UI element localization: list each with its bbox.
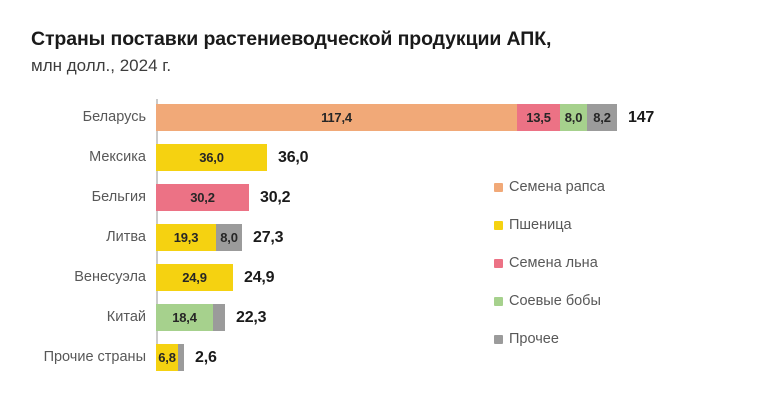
stacked-bar[interactable]: 117,413,58,08,2 [156, 104, 617, 131]
bar-total-value: 22,3 [236, 304, 266, 331]
bar-segment-value: 19,3 [174, 231, 199, 244]
bar-total-value: 147 [628, 104, 654, 131]
bar-segment[interactable]: 6,8 [156, 344, 178, 371]
bar-total-value: 30,2 [260, 184, 290, 211]
stacked-bar[interactable]: 24,9 [156, 264, 233, 291]
bar-total-value: 27,3 [253, 224, 283, 251]
chart-legend: Семена рапсаПшеницаСемена льнаСоевые боб… [494, 168, 744, 358]
stacked-bar[interactable]: 36,0 [156, 144, 267, 171]
legend-swatch-icon [494, 259, 503, 268]
stacked-bar[interactable]: 6,8 [156, 344, 184, 371]
bar-segment[interactable]: 13,5 [517, 104, 560, 131]
category-label: Прочие страны [44, 337, 157, 377]
chart-subtitle: млн долл., 2024 г. [31, 55, 731, 76]
bar-segment[interactable]: 8,0 [560, 104, 587, 131]
bar-container: 30,230,2 [156, 177, 290, 217]
bar-total-value: 36,0 [278, 144, 308, 171]
bar-segment[interactable]: 24,9 [156, 264, 233, 291]
legend-item[interactable]: Семена рапса [494, 168, 744, 206]
bar-segment-value: 8,2 [593, 111, 610, 124]
category-label: Беларусь [83, 97, 157, 137]
legend-swatch-icon [494, 183, 503, 192]
category-label: Венесуэла [74, 257, 157, 297]
category-label: Литва [106, 217, 157, 257]
bar-segment[interactable]: 36,0 [156, 144, 267, 171]
legend-swatch-icon [494, 335, 503, 344]
legend-item[interactable]: Пшеница [494, 206, 744, 244]
bar-segment-value: 24,9 [182, 271, 207, 284]
title-block: Страны поставки растениеводческой продук… [31, 28, 731, 76]
bar-segment[interactable]: 30,2 [156, 184, 249, 211]
bar-container: 18,422,3 [156, 297, 266, 337]
legend-item[interactable]: Семена льна [494, 244, 744, 282]
bar-container: 19,38,027,3 [156, 217, 283, 257]
bar-total-value: 2,6 [195, 344, 217, 371]
bar-segment[interactable]: 8,0 [216, 224, 242, 251]
bar-segment-value: 36,0 [199, 151, 224, 164]
stacked-bar[interactable]: 30,2 [156, 184, 249, 211]
legend-item[interactable]: Прочее [494, 320, 744, 358]
legend-label: Прочее [509, 332, 559, 347]
category-label: Китай [107, 297, 157, 337]
bar-total-value: 24,9 [244, 264, 274, 291]
bar-container: 24,924,9 [156, 257, 274, 297]
bar-container: 6,82,6 [156, 337, 217, 377]
bar-segment[interactable] [213, 304, 225, 331]
bar-segment-value: 8,0 [220, 231, 237, 244]
legend-label: Семена рапса [509, 180, 605, 195]
bar-segment-value: 8,0 [565, 111, 582, 124]
legend-item[interactable]: Соевые бобы [494, 282, 744, 320]
bar-row: Беларусь117,413,58,08,2147 [0, 97, 771, 137]
bar-segment[interactable]: 19,3 [156, 224, 216, 251]
category-label: Бельгия [92, 177, 157, 217]
legend-label: Семена льна [509, 256, 598, 271]
stacked-bar[interactable]: 19,38,0 [156, 224, 242, 251]
bar-segment[interactable]: 117,4 [156, 104, 517, 131]
legend-label: Пшеница [509, 218, 572, 233]
bar-segment[interactable] [178, 344, 184, 371]
chart-figure: Страны поставки растениеводческой продук… [0, 0, 771, 404]
bar-segment-value: 13,5 [526, 111, 551, 124]
bar-segment-value: 18,4 [172, 311, 197, 324]
chart-title: Страны поставки растениеводческой продук… [31, 28, 731, 52]
bar-segment-value: 30,2 [190, 191, 215, 204]
bar-container: 36,036,0 [156, 137, 308, 177]
bar-segment[interactable]: 18,4 [156, 304, 213, 331]
bar-segment[interactable]: 8,2 [587, 104, 617, 131]
legend-swatch-icon [494, 221, 503, 230]
legend-swatch-icon [494, 297, 503, 306]
bar-segment-value: 117,4 [321, 111, 352, 124]
bar-segment-value: 6,8 [158, 351, 175, 364]
legend-label: Соевые бобы [509, 294, 601, 309]
category-label: Мексика [89, 137, 157, 177]
stacked-bar[interactable]: 18,4 [156, 304, 225, 331]
bar-container: 117,413,58,08,2147 [156, 97, 654, 137]
